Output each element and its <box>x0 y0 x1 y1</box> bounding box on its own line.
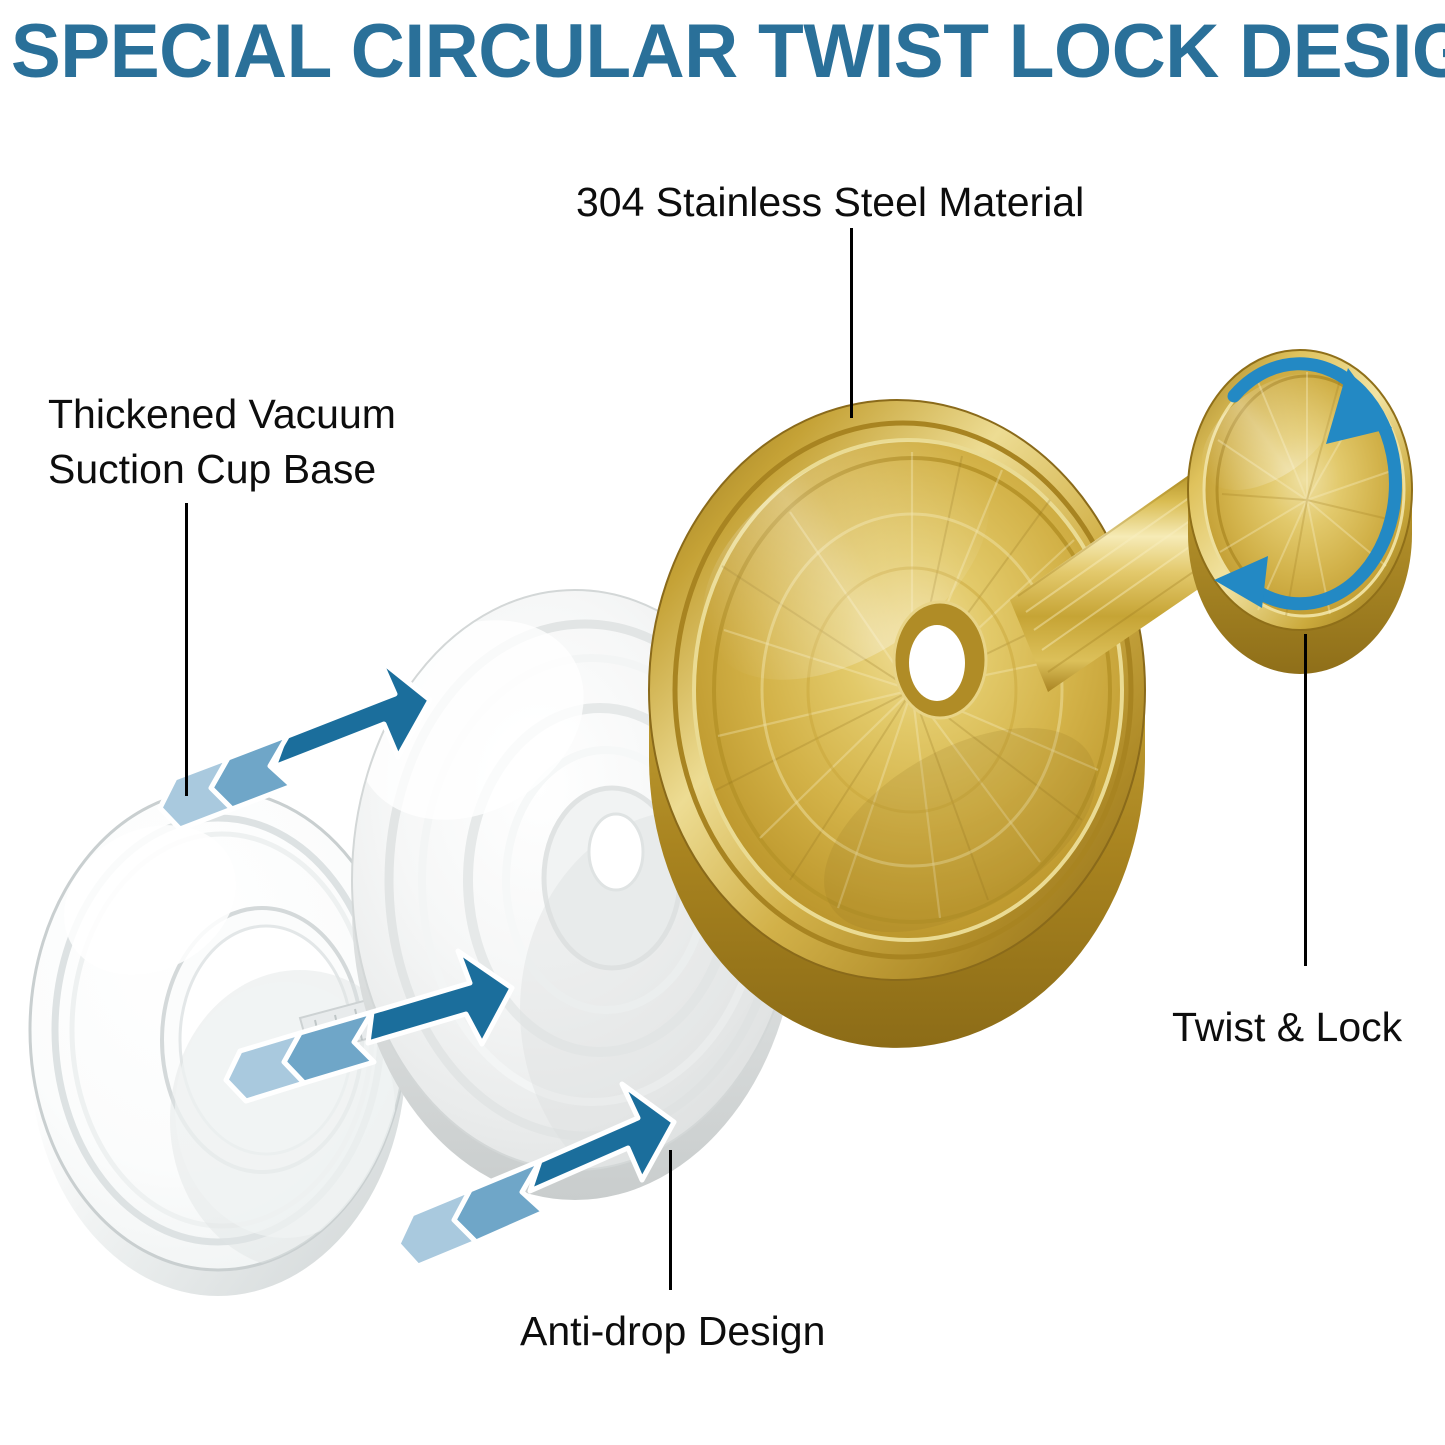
assembly-arrow-middle <box>226 951 512 1101</box>
callout-label-steel: 304 Stainless Steel Material <box>576 175 1084 230</box>
base-plate-center-hole <box>894 602 986 718</box>
leader-line-vacuum <box>185 503 188 796</box>
twist-rotation-arrow <box>1214 364 1395 608</box>
page-title: SPECIAL CIRCULAR TWIST LOCK DESIGN <box>11 14 1434 90</box>
assembly-arrow-bottom <box>398 1084 674 1266</box>
leader-line-antidrop <box>669 1150 672 1290</box>
white-gasket-disc <box>320 580 860 1210</box>
callout-label-vacuum: Thickened Vacuum Suction Cup Base <box>48 387 396 496</box>
clear-suction-cup <box>30 790 430 1296</box>
gold-base-plate <box>649 391 1145 1048</box>
leader-line-steel <box>850 228 853 418</box>
gold-knob-head <box>1010 350 1412 692</box>
infographic-canvas: SPECIAL CIRCULAR TWIST LOCK DESIGN <box>0 0 1445 1445</box>
callout-label-antidrop: Anti-drop Design <box>520 1304 825 1359</box>
leader-line-twist <box>1304 634 1307 966</box>
assembly-arrow-top <box>160 660 430 829</box>
callout-label-twist: Twist & Lock <box>1172 1000 1402 1055</box>
suction-cup-screw-stud <box>300 986 430 1054</box>
